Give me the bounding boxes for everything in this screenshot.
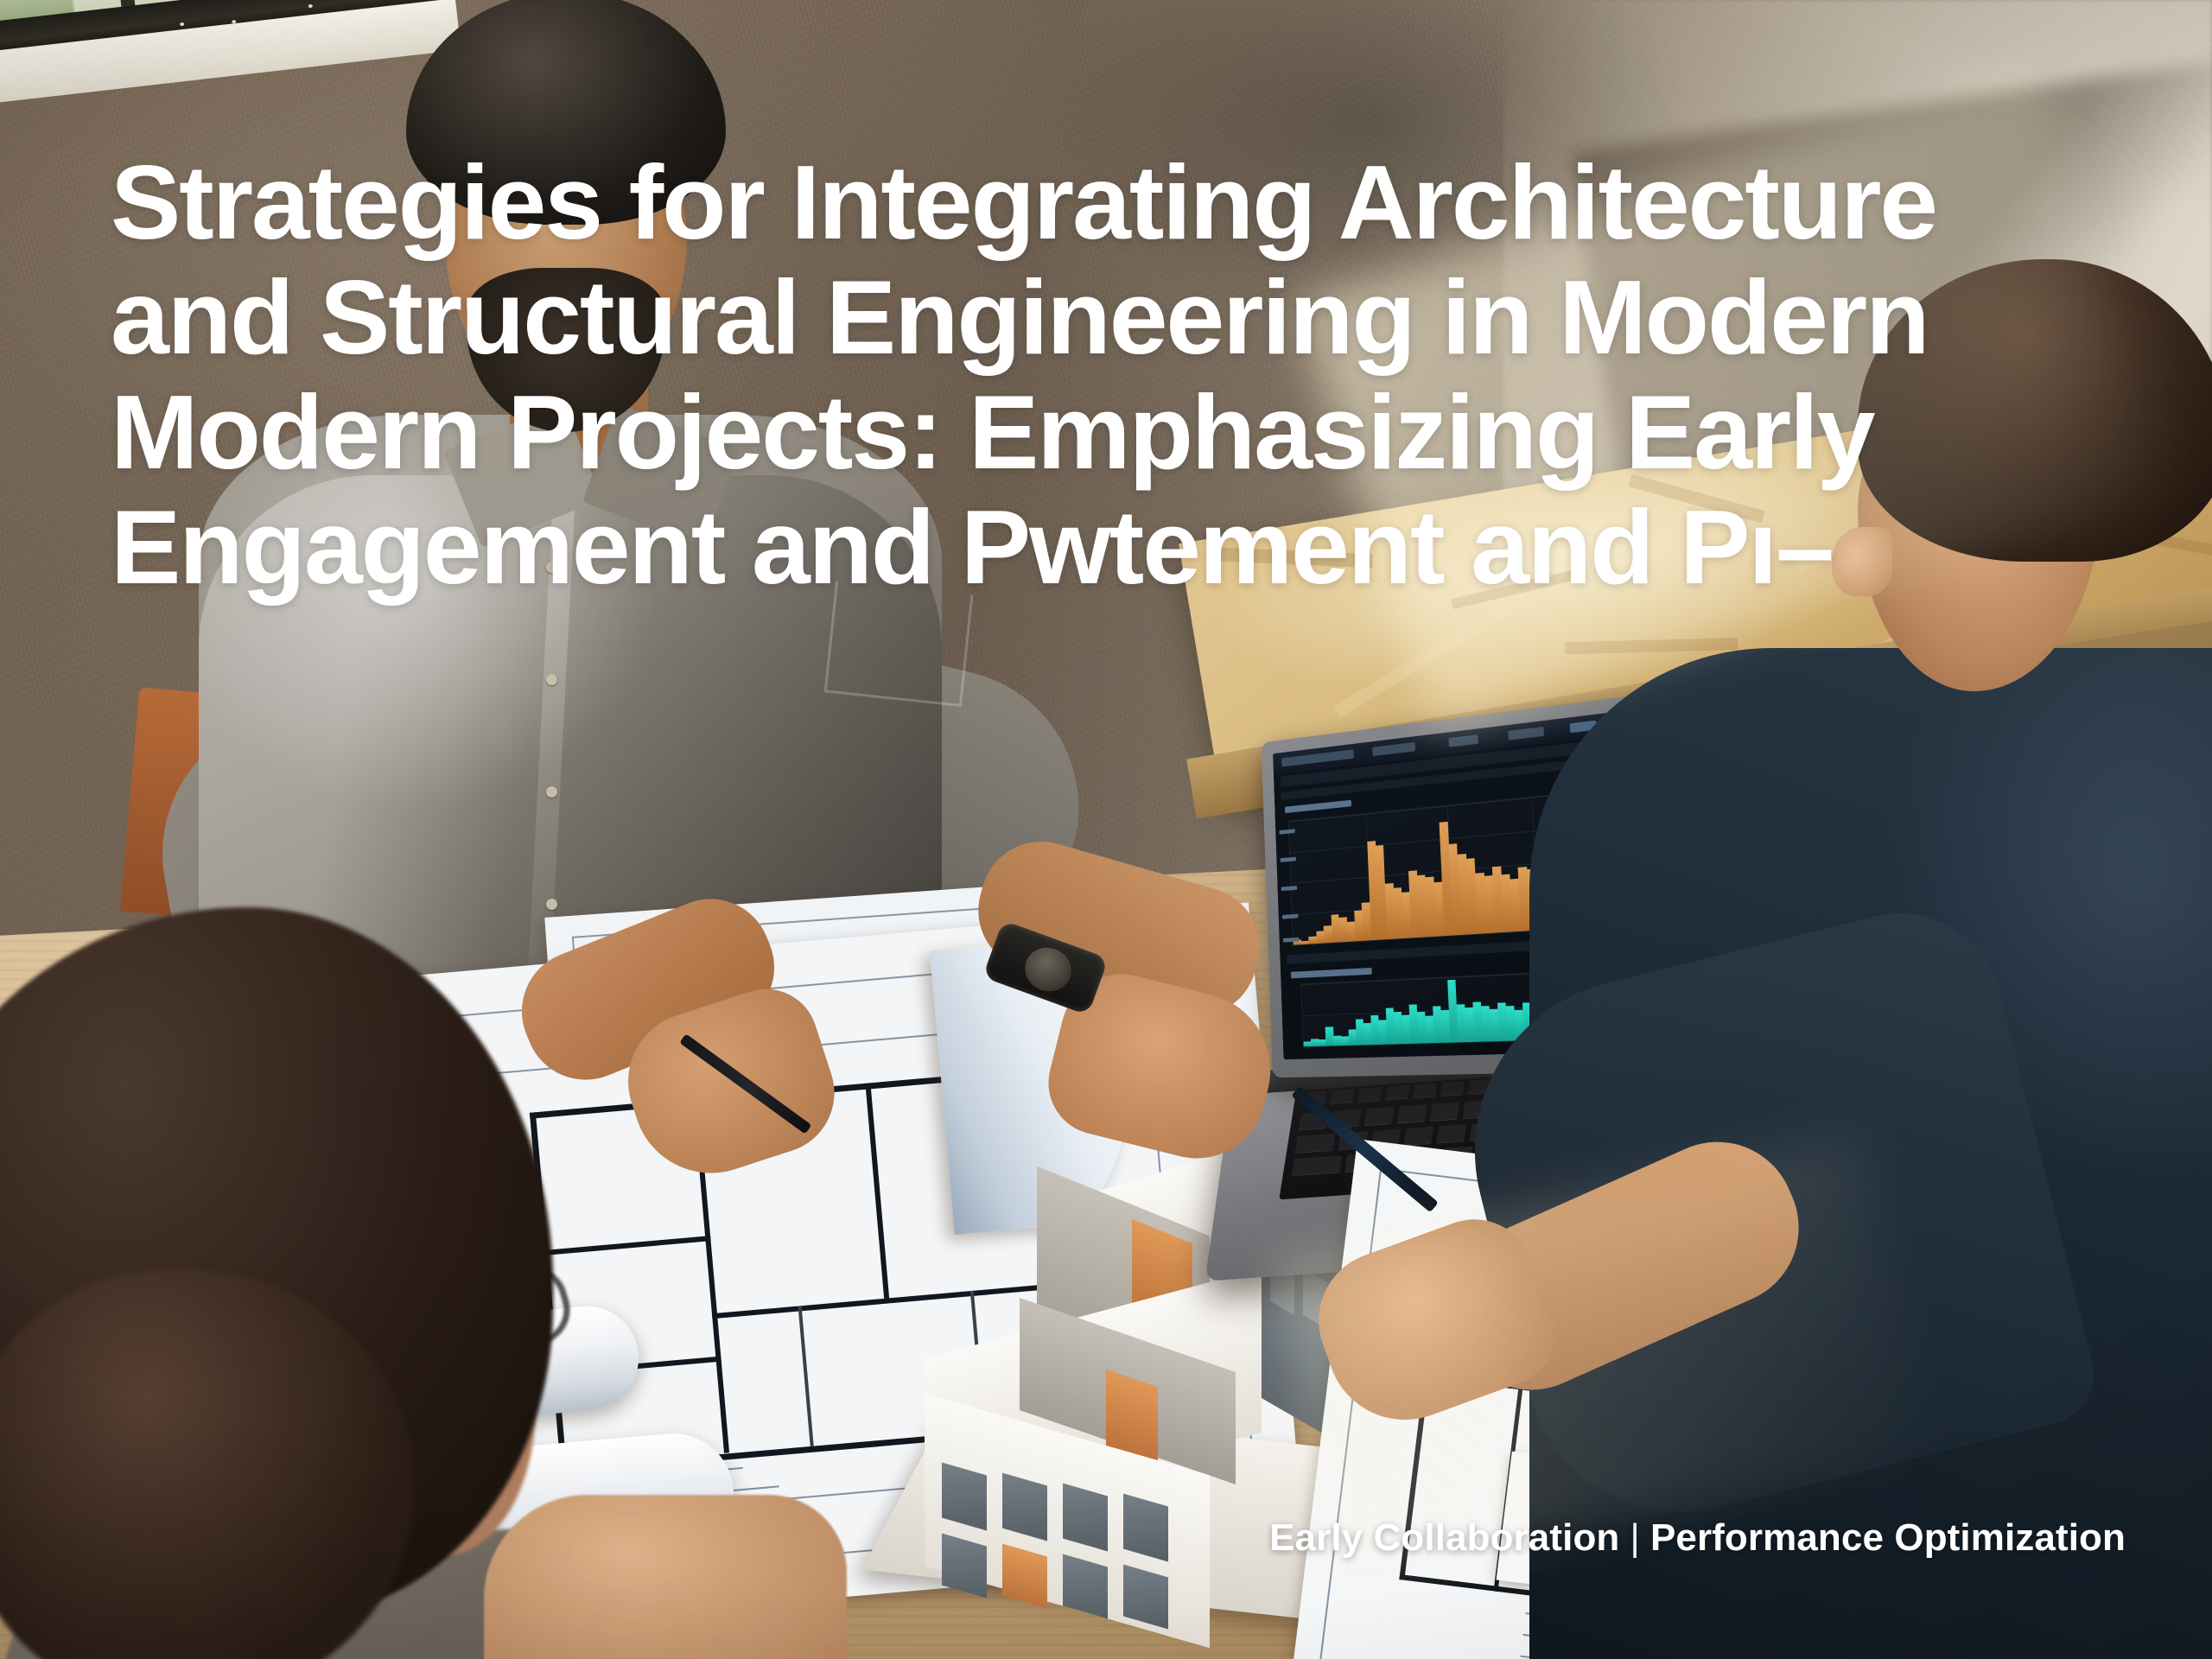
caption-tagline: Early Collaboration|Performance Optimiza… xyxy=(0,1516,2126,1560)
caption-right-text: Performance Optimization xyxy=(1650,1516,2126,1559)
caption-left-text: Early Collaboration xyxy=(1269,1516,1619,1559)
chart-title-bar-primary xyxy=(1285,800,1352,813)
caption-separator: | xyxy=(1619,1516,1650,1559)
promotional-graphic: Strategies for Integrating Architecture … xyxy=(0,0,2212,1659)
chart-title-bar-secondary xyxy=(1291,968,1373,978)
page-title: Strategies for Integrating Architecture … xyxy=(111,145,2046,605)
shirt-button xyxy=(546,674,557,685)
shirt-button xyxy=(546,786,557,798)
chart-datapoint xyxy=(1301,941,1309,945)
